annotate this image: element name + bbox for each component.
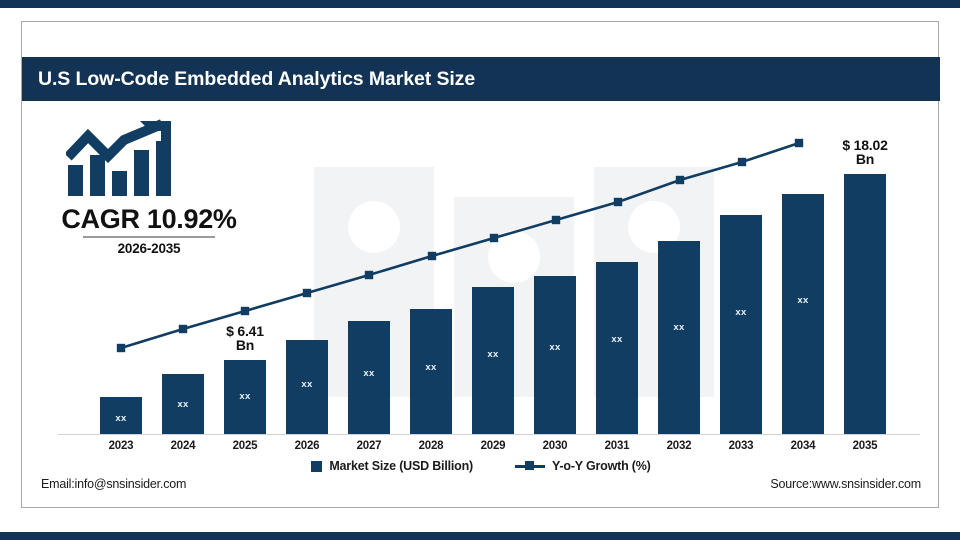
x-tick-2024: 2024: [152, 440, 214, 452]
footer-email: Email:info@snsinsider.com: [41, 477, 186, 491]
value-callout-2035: $ 18.02Bn: [815, 138, 915, 167]
value-callout-2025: $ 6.41Bn: [195, 324, 295, 353]
infographic-card: U.S Low-Code Embedded Analytics Market S…: [21, 21, 939, 508]
footer-source: Source:www.snsinsider.com: [770, 477, 921, 491]
footer: Email:info@snsinsider.com Source:www.sns…: [22, 461, 940, 507]
callout-line-1: $ 18.02: [815, 138, 915, 152]
x-tick-2030: 2030: [524, 440, 586, 452]
x-tick-2035: 2035: [834, 440, 896, 452]
title-bar: U.S Low-Code Embedded Analytics Market S…: [22, 57, 940, 101]
x-tick-2032: 2032: [648, 440, 710, 452]
bottom-accent-strip: [0, 532, 960, 540]
x-tick-2029: 2029: [462, 440, 524, 452]
x-tick-2025: 2025: [214, 440, 276, 452]
x-tick-2033: 2033: [710, 440, 772, 452]
callout-line-1: $ 6.41: [195, 324, 295, 338]
x-tick-2028: 2028: [400, 440, 462, 452]
value-callouts-layer: $ 6.41Bn$ 18.02Bn: [58, 112, 920, 446]
x-tick-2023: 2023: [90, 440, 152, 452]
x-tick-2027: 2027: [338, 440, 400, 452]
chart-plot-area: xxxxxxxxxxxxxxxxxxxxxxxx $ 6.41Bn$ 18.02…: [58, 112, 920, 446]
callout-line-2: Bn: [815, 152, 915, 166]
x-tick-2034: 2034: [772, 440, 834, 452]
x-tick-2026: 2026: [276, 440, 338, 452]
top-accent-strip: [0, 0, 960, 8]
page-title: U.S Low-Code Embedded Analytics Market S…: [22, 68, 475, 91]
callout-line-2: Bn: [195, 338, 295, 352]
x-tick-2031: 2031: [586, 440, 648, 452]
x-axis-labels: 2023202420252026202720282029203020312032…: [58, 440, 920, 460]
chart-infographic: U.S Low-Code Embedded Analytics Market S…: [0, 0, 960, 540]
